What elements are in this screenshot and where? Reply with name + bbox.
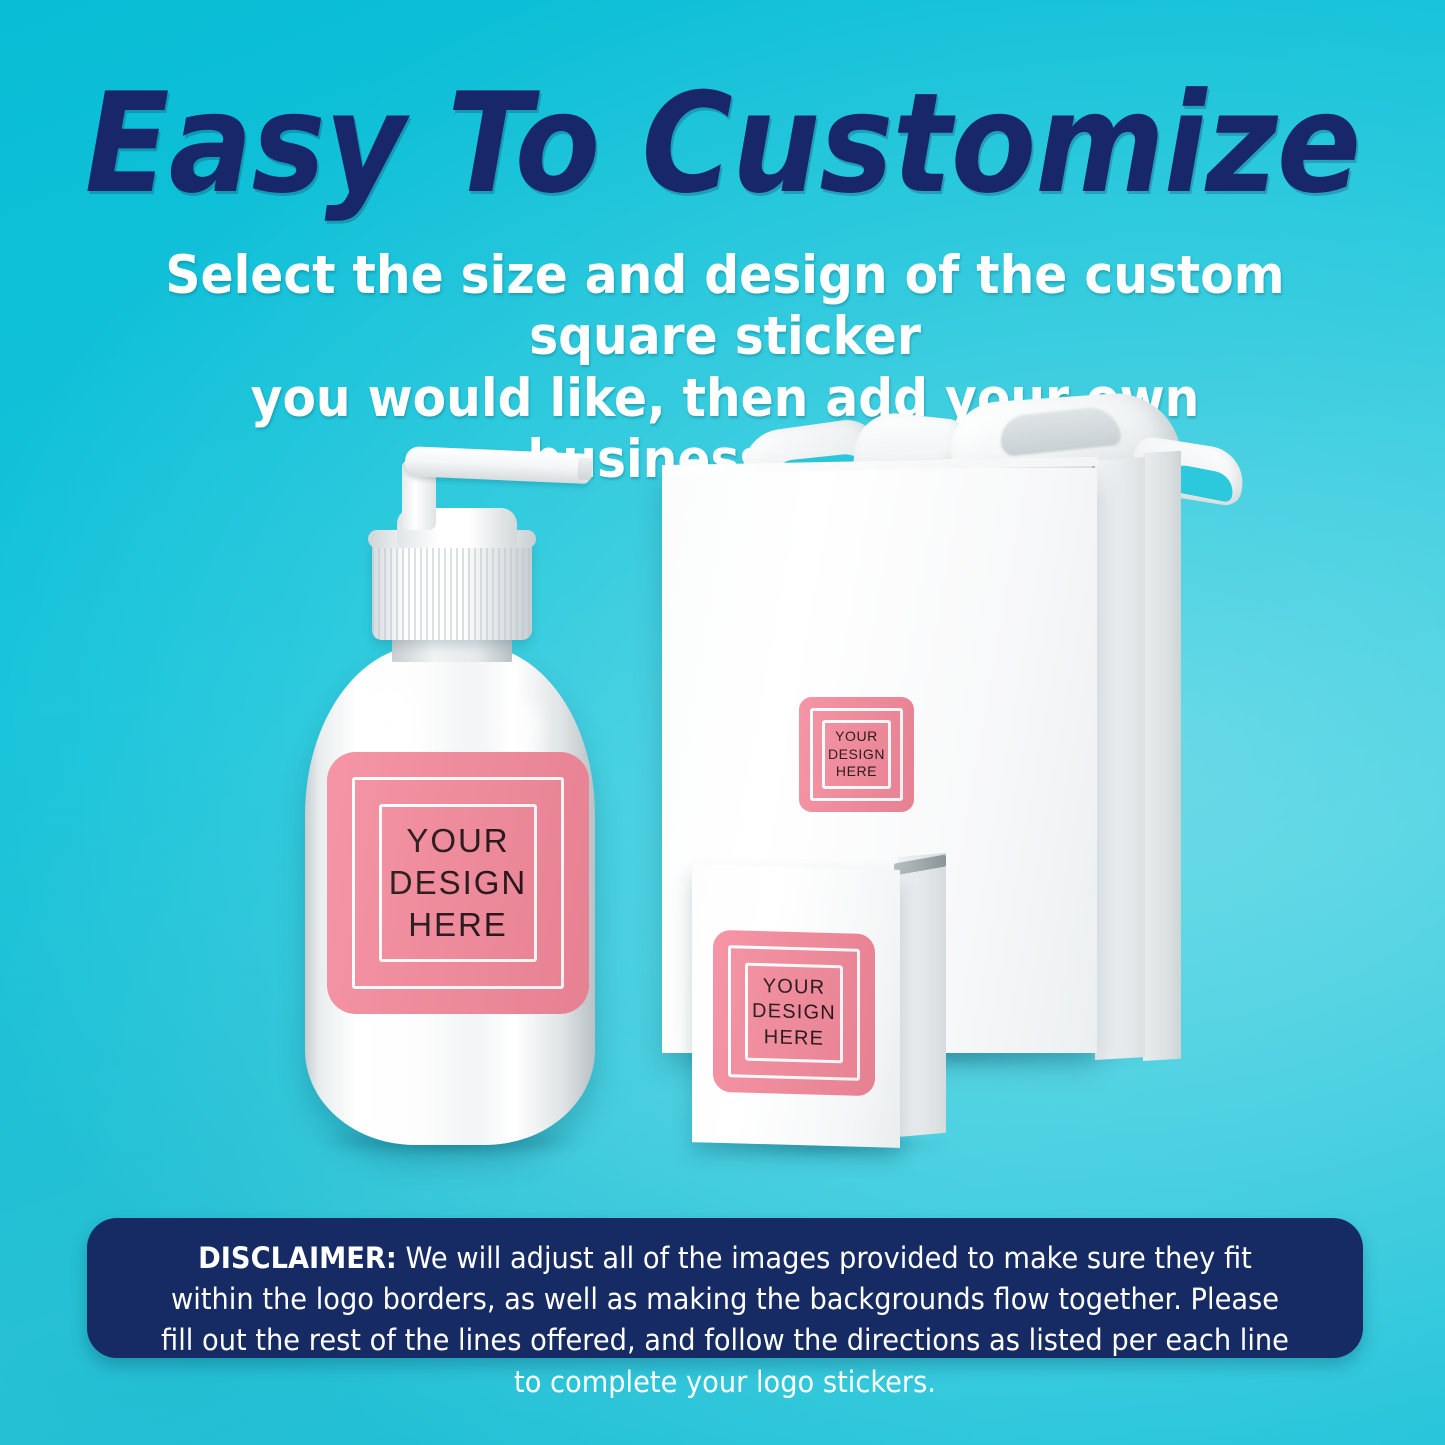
disclaimer-label: DISCLAIMER: xyxy=(198,1241,397,1275)
sticker-content: YOUR DESIGN HERE xyxy=(327,752,589,1014)
sticker-small-box[interactable]: YOUR DESIGN HERE xyxy=(713,930,875,1097)
sticker-text-line-3: HERE xyxy=(752,1025,836,1053)
sticker-text-line-1: YOUR xyxy=(828,728,885,746)
sticker-text-line-1: YOUR xyxy=(389,820,527,862)
sticker-content: YOUR DESIGN HERE xyxy=(713,930,875,1097)
gift-box-side-panel-back xyxy=(1143,451,1181,1061)
sticker-text-line-2: DESIGN xyxy=(828,746,885,764)
small-box-side-panel xyxy=(898,853,946,1137)
gift-box-side-panel-front xyxy=(1095,457,1145,1060)
sticker-text: YOUR DESIGN HERE xyxy=(828,728,885,782)
pump-collar xyxy=(372,535,532,640)
page-title: Easy To Customize xyxy=(72,72,1373,216)
subtitle-line-1: Select the size and design of the custom… xyxy=(155,245,1296,368)
sticker-gift-box[interactable]: YOUR DESIGN HERE xyxy=(799,697,914,812)
disclaimer-text: DISCLAIMER: We will adjust all of the im… xyxy=(125,1218,1324,1403)
sticker-text-line-2: DESIGN xyxy=(389,862,527,904)
sticker-text-line-1: YOUR xyxy=(752,973,836,1001)
sticker-text: YOUR DESIGN HERE xyxy=(752,973,836,1052)
sticker-text-line-3: HERE xyxy=(828,763,885,781)
sticker-text-line-2: DESIGN xyxy=(752,999,836,1027)
sticker-text: YOUR DESIGN HERE xyxy=(389,820,527,947)
disclaimer-panel: DISCLAIMER: We will adjust all of the im… xyxy=(87,1218,1363,1358)
sticker-text-line-3: HERE xyxy=(389,904,527,946)
sticker-bottle[interactable]: YOUR DESIGN HERE xyxy=(327,752,589,1014)
promo-banner: Easy To Customize Select the size and de… xyxy=(0,0,1445,1445)
sticker-content: YOUR DESIGN HERE xyxy=(799,697,914,812)
